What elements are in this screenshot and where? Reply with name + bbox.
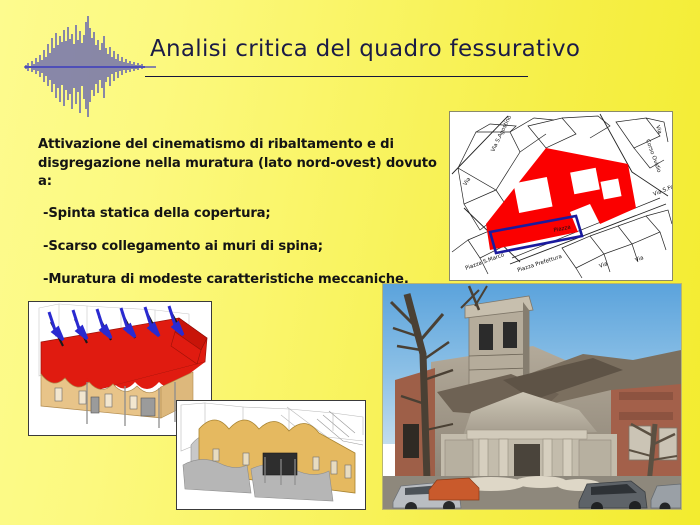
- photograph-svg: [383, 284, 681, 509]
- damage-photograph: [382, 283, 682, 510]
- bullet-item-3: -Muratura di modeste caratteristiche mec…: [38, 271, 438, 290]
- seismogram-svg: [24, 14, 156, 120]
- parked-car: [429, 478, 479, 500]
- section-svg: [177, 401, 365, 509]
- body-text-block: Attivazione del cinematismo di ribaltame…: [38, 136, 438, 303]
- slide-title: Analisi critica del quadro fessurativo: [150, 36, 610, 62]
- cadastral-map-figure: Via S.Agostino Via Corso Ovidio Via Via …: [449, 111, 673, 281]
- parked-car: [579, 481, 647, 509]
- seismogram-icon: [24, 14, 156, 120]
- title-divider: [145, 76, 528, 77]
- section-cutaway-figure: [176, 400, 366, 510]
- intro-paragraph: Attivazione del cinematismo di ribaltame…: [38, 136, 438, 192]
- bullet-item-2: -Scarso collegamento ai muri di spina;: [38, 238, 438, 257]
- cadastral-map-svg: Via S.Agostino Via Corso Ovidio Via Via …: [450, 112, 672, 280]
- slide-canvas: Analisi critica del quadro fessurativo A…: [0, 0, 700, 525]
- bullet-item-1: -Spinta statica della copertura;: [38, 205, 438, 224]
